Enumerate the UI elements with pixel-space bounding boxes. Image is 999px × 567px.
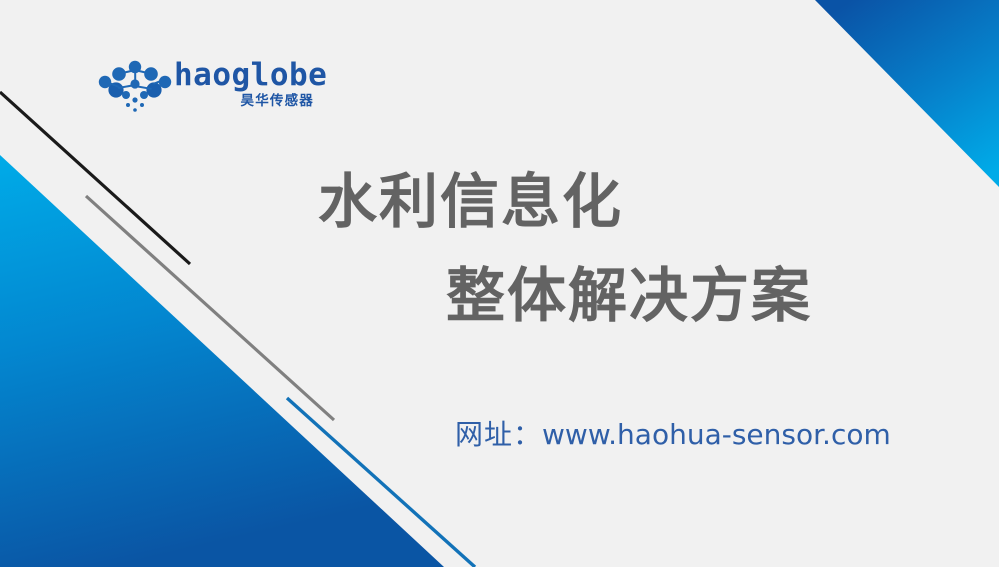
- logo-wordmark: haoglobe: [174, 58, 314, 92]
- website-label: 网址：: [455, 418, 542, 451]
- website-url: www.haohua-sensor.com: [542, 418, 891, 451]
- logo-text-block: haoglobe 昊华传感器: [174, 58, 314, 118]
- company-logo: haoglobe 昊华传感器: [98, 58, 314, 120]
- presentation-slide: haoglobe 昊华传感器 水利信息化 整体解决方案 网址：www.haohu…: [0, 0, 999, 567]
- molecule-network-icon: [98, 60, 172, 114]
- logo-subtitle: 昊华传感器: [174, 93, 314, 109]
- website-line: 网址：www.haohua-sensor.com: [455, 421, 891, 449]
